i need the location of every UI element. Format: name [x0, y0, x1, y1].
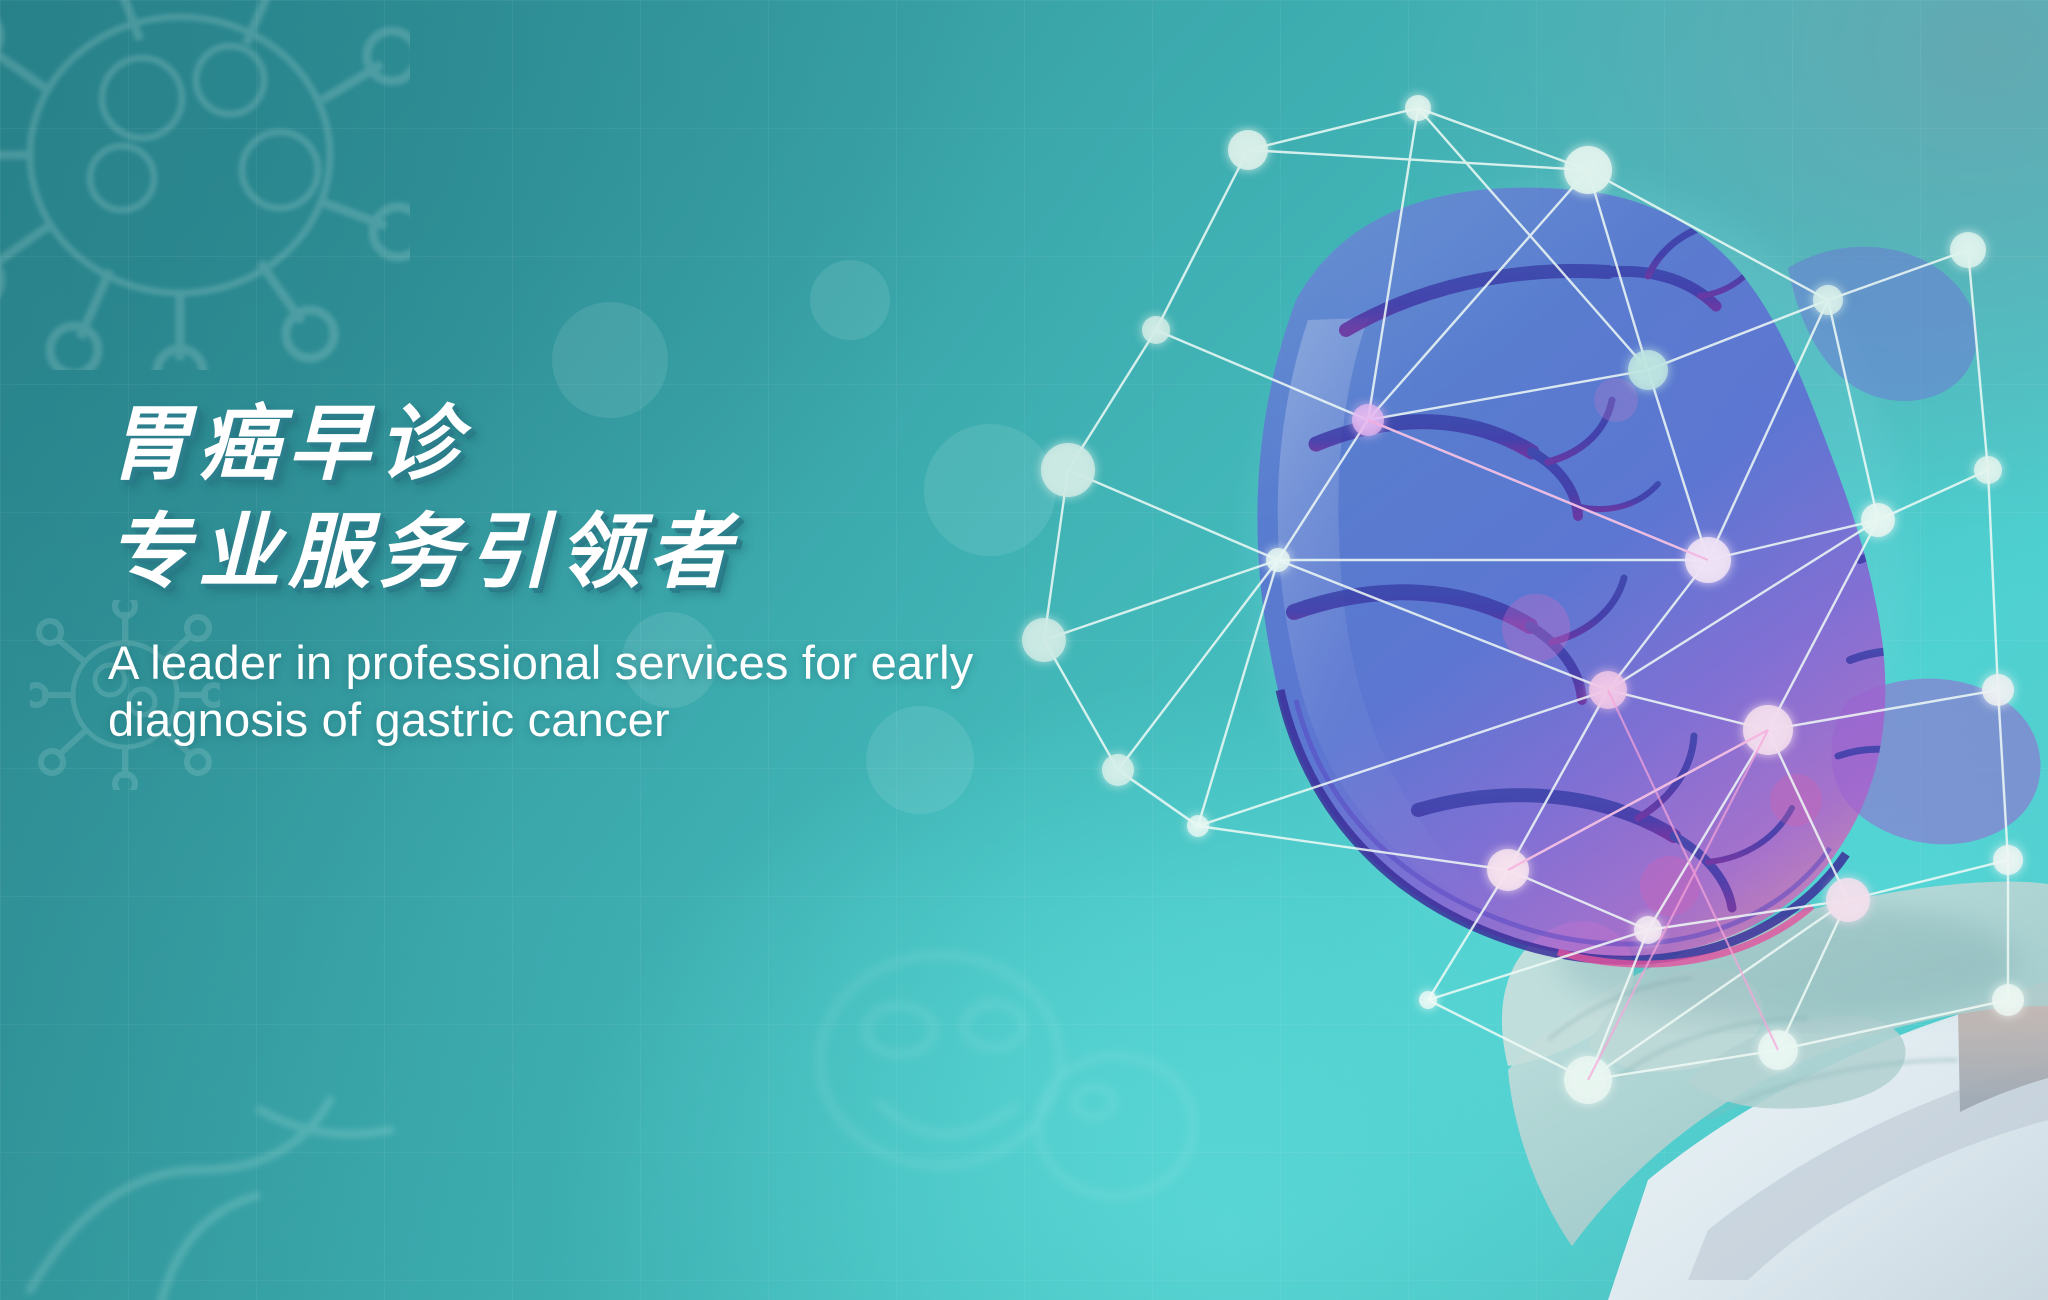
stomach-organ: [1257, 188, 2040, 965]
stomach-illustration: [948, 0, 2048, 1300]
subtitle-english-line-1: A leader in professional services for ea…: [108, 634, 1068, 691]
molecule-chain-watermark-bottom-left: [10, 1080, 430, 1300]
headline-chinese-line-1: 胃癌早诊: [108, 404, 1068, 486]
headline-chinese-line-2: 专业服务引领者: [108, 512, 1068, 594]
subtitle-english-line-2: diagnosis of gastric cancer: [108, 691, 1068, 748]
hero-banner: 胃癌早诊 专业服务引领者 A leader in professional se…: [0, 0, 2048, 1300]
stomach-pylorus: [1831, 679, 2040, 845]
virus-particle-watermark-top-left: [0, 0, 410, 370]
headline-block: 胃癌早诊 专业服务引领者 A leader in professional se…: [108, 404, 1068, 749]
subtitle-english: A leader in professional services for ea…: [108, 634, 1068, 749]
